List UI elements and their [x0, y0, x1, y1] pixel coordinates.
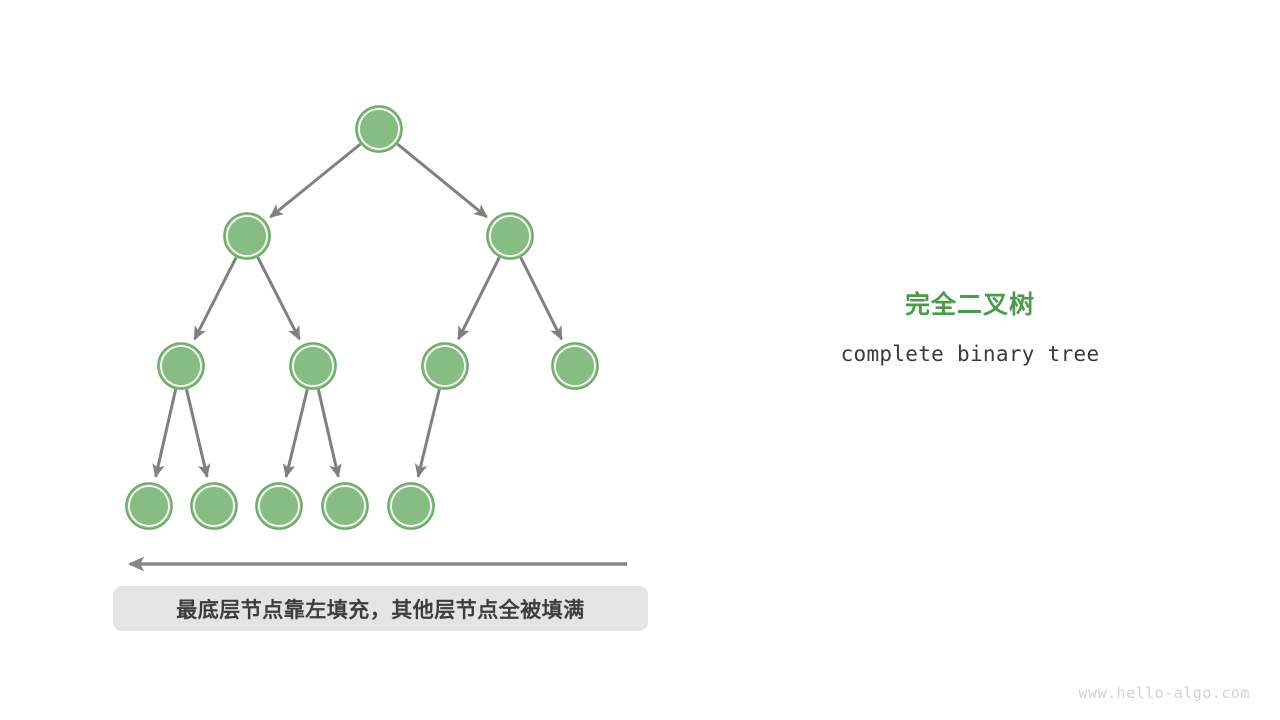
tree-edge — [418, 389, 439, 477]
tree-edge — [270, 144, 360, 217]
tree-node-inner-ring — [555, 346, 595, 386]
tree-node[interactable] — [158, 343, 204, 389]
tree-node-inner-ring — [391, 486, 431, 526]
tree-node[interactable] — [487, 213, 533, 259]
tree-node[interactable] — [388, 483, 434, 529]
caption-text: 最底层节点靠左填充，其他层节点全被填满 — [176, 594, 585, 624]
tree-edge — [258, 257, 300, 339]
tree-node[interactable] — [322, 483, 368, 529]
tree-node-inner-ring — [325, 486, 365, 526]
tree-edge — [521, 257, 562, 339]
tree-edge — [286, 389, 307, 477]
tree-edge — [458, 257, 499, 339]
tree-edge — [318, 389, 338, 476]
tree-edge — [195, 257, 237, 339]
tree-node[interactable] — [191, 483, 237, 529]
tree-node-inner-ring — [490, 216, 530, 256]
tree-node-inner-ring — [129, 486, 169, 526]
legend-title: 完全二叉树 — [760, 290, 1180, 320]
tree-node-inner-ring — [425, 346, 465, 386]
tree-node[interactable] — [126, 483, 172, 529]
tree-node-inner-ring — [359, 109, 399, 149]
tree-edge — [187, 389, 208, 476]
watermark: www.hello-algo.com — [1078, 684, 1250, 702]
tree-node[interactable] — [256, 483, 302, 529]
tree-node[interactable] — [552, 343, 598, 389]
tree-node-layer — [126, 106, 598, 529]
tree-node[interactable] — [422, 343, 468, 389]
caption-box: 最底层节点靠左填充，其他层节点全被填满 — [113, 586, 648, 631]
tree-node-inner-ring — [161, 346, 201, 386]
tree-node-inner-ring — [194, 486, 234, 526]
tree-node-inner-ring — [227, 216, 267, 256]
tree-node[interactable] — [290, 343, 336, 389]
tree-node[interactable] — [356, 106, 402, 152]
legend: 完全二叉树 complete binary tree — [760, 290, 1180, 366]
tree-edge — [398, 144, 487, 217]
legend-subtitle: complete binary tree — [760, 342, 1180, 366]
tree-edge — [156, 389, 176, 476]
tree-node[interactable] — [224, 213, 270, 259]
tree-node-inner-ring — [293, 346, 333, 386]
tree-edge-layer — [156, 144, 562, 477]
tree-node-inner-ring — [259, 486, 299, 526]
